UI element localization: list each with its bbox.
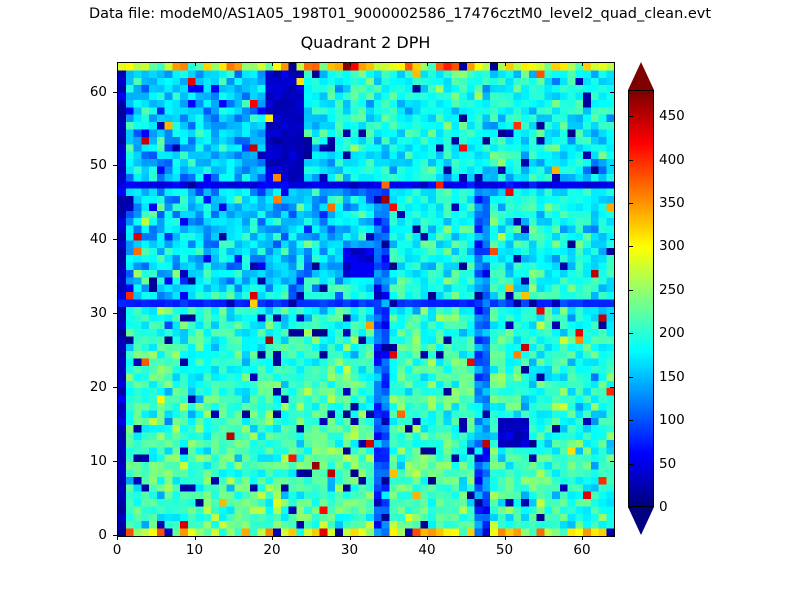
colorbar-tick-mark [628, 246, 633, 247]
y-tick-mark-right [610, 239, 614, 240]
figure-canvas: Data file: modeM0/AS1A05_198T01_90000025… [0, 0, 800, 600]
colorbar-tick-mark [628, 116, 633, 117]
x-tick-mark-top [505, 62, 506, 66]
y-tick-mark-right [610, 535, 614, 536]
y-tick-label: 0 [61, 527, 107, 543]
y-tick-mark [113, 461, 117, 462]
y-tick-mark [113, 239, 117, 240]
x-tick-mark-top [272, 62, 273, 66]
x-tick-mark [272, 536, 273, 540]
colorbar-tick-label: 400 [659, 152, 685, 168]
colorbar-tick-label: 100 [659, 412, 685, 428]
colorbar-image [629, 91, 653, 506]
y-tick-mark-right [610, 165, 614, 166]
x-tick-label: 40 [397, 542, 457, 558]
colorbar-tick-label: 250 [659, 282, 685, 298]
y-tick-label: 20 [61, 379, 107, 395]
x-tick-label: 50 [475, 542, 535, 558]
y-tick-mark-right [610, 313, 614, 314]
colorbar-tick-mark [628, 507, 633, 508]
colorbar-tick-mark [628, 464, 633, 465]
colorbar-tick-mark [628, 290, 633, 291]
y-tick-mark [113, 313, 117, 314]
colorbar-tick-label: 350 [659, 195, 685, 211]
colorbar-tick-label: 50 [659, 456, 676, 472]
x-tick-mark-top [350, 62, 351, 66]
x-tick-mark-top [582, 62, 583, 66]
colorbar-tick-mark [628, 377, 633, 378]
x-tick-mark [582, 536, 583, 540]
x-tick-mark [505, 536, 506, 540]
colorbar-tick-mark [628, 333, 633, 334]
x-tick-label: 20 [242, 542, 302, 558]
colorbar-tick-label: 300 [659, 238, 685, 254]
data-file-caption: Data file: modeM0/AS1A05_198T01_90000025… [0, 6, 800, 22]
colorbar-tick-label: 0 [659, 499, 668, 515]
plot-title: Quadrant 2 DPH [117, 33, 614, 52]
colorbar-tick-mark [628, 420, 633, 421]
y-tick-mark [113, 387, 117, 388]
colorbar-tick-mark [628, 203, 633, 204]
y-tick-label: 40 [61, 231, 107, 247]
x-tick-mark [117, 536, 118, 540]
y-tick-label: 30 [61, 305, 107, 321]
x-tick-label: 10 [165, 542, 225, 558]
y-tick-label: 10 [61, 453, 107, 469]
y-tick-mark-right [610, 461, 614, 462]
y-tick-mark [113, 165, 117, 166]
y-tick-mark-right [610, 387, 614, 388]
x-tick-label: 30 [320, 542, 380, 558]
colorbar-tick-label: 450 [659, 108, 685, 124]
y-tick-mark [113, 535, 117, 536]
colorbar-tick-label: 150 [659, 369, 685, 385]
x-tick-mark [195, 536, 196, 540]
x-tick-mark [427, 536, 428, 540]
y-tick-label: 60 [61, 84, 107, 100]
colorbar-over-arrow-icon [628, 62, 654, 90]
y-tick-label: 50 [61, 157, 107, 173]
heatmap-axes[interactable] [117, 62, 615, 537]
x-tick-label: 60 [552, 542, 612, 558]
colorbar-tick-label: 200 [659, 325, 685, 341]
y-tick-mark [113, 92, 117, 93]
y-tick-mark-right [610, 92, 614, 93]
x-tick-mark-top [195, 62, 196, 66]
heatmap-image [118, 63, 614, 536]
colorbar-tick-mark [628, 160, 633, 161]
x-tick-mark-top [427, 62, 428, 66]
x-tick-label: 0 [87, 542, 147, 558]
x-tick-mark-top [117, 62, 118, 66]
colorbar-gradient [628, 90, 654, 507]
x-tick-mark [350, 536, 351, 540]
colorbar-under-arrow-icon [628, 507, 654, 535]
